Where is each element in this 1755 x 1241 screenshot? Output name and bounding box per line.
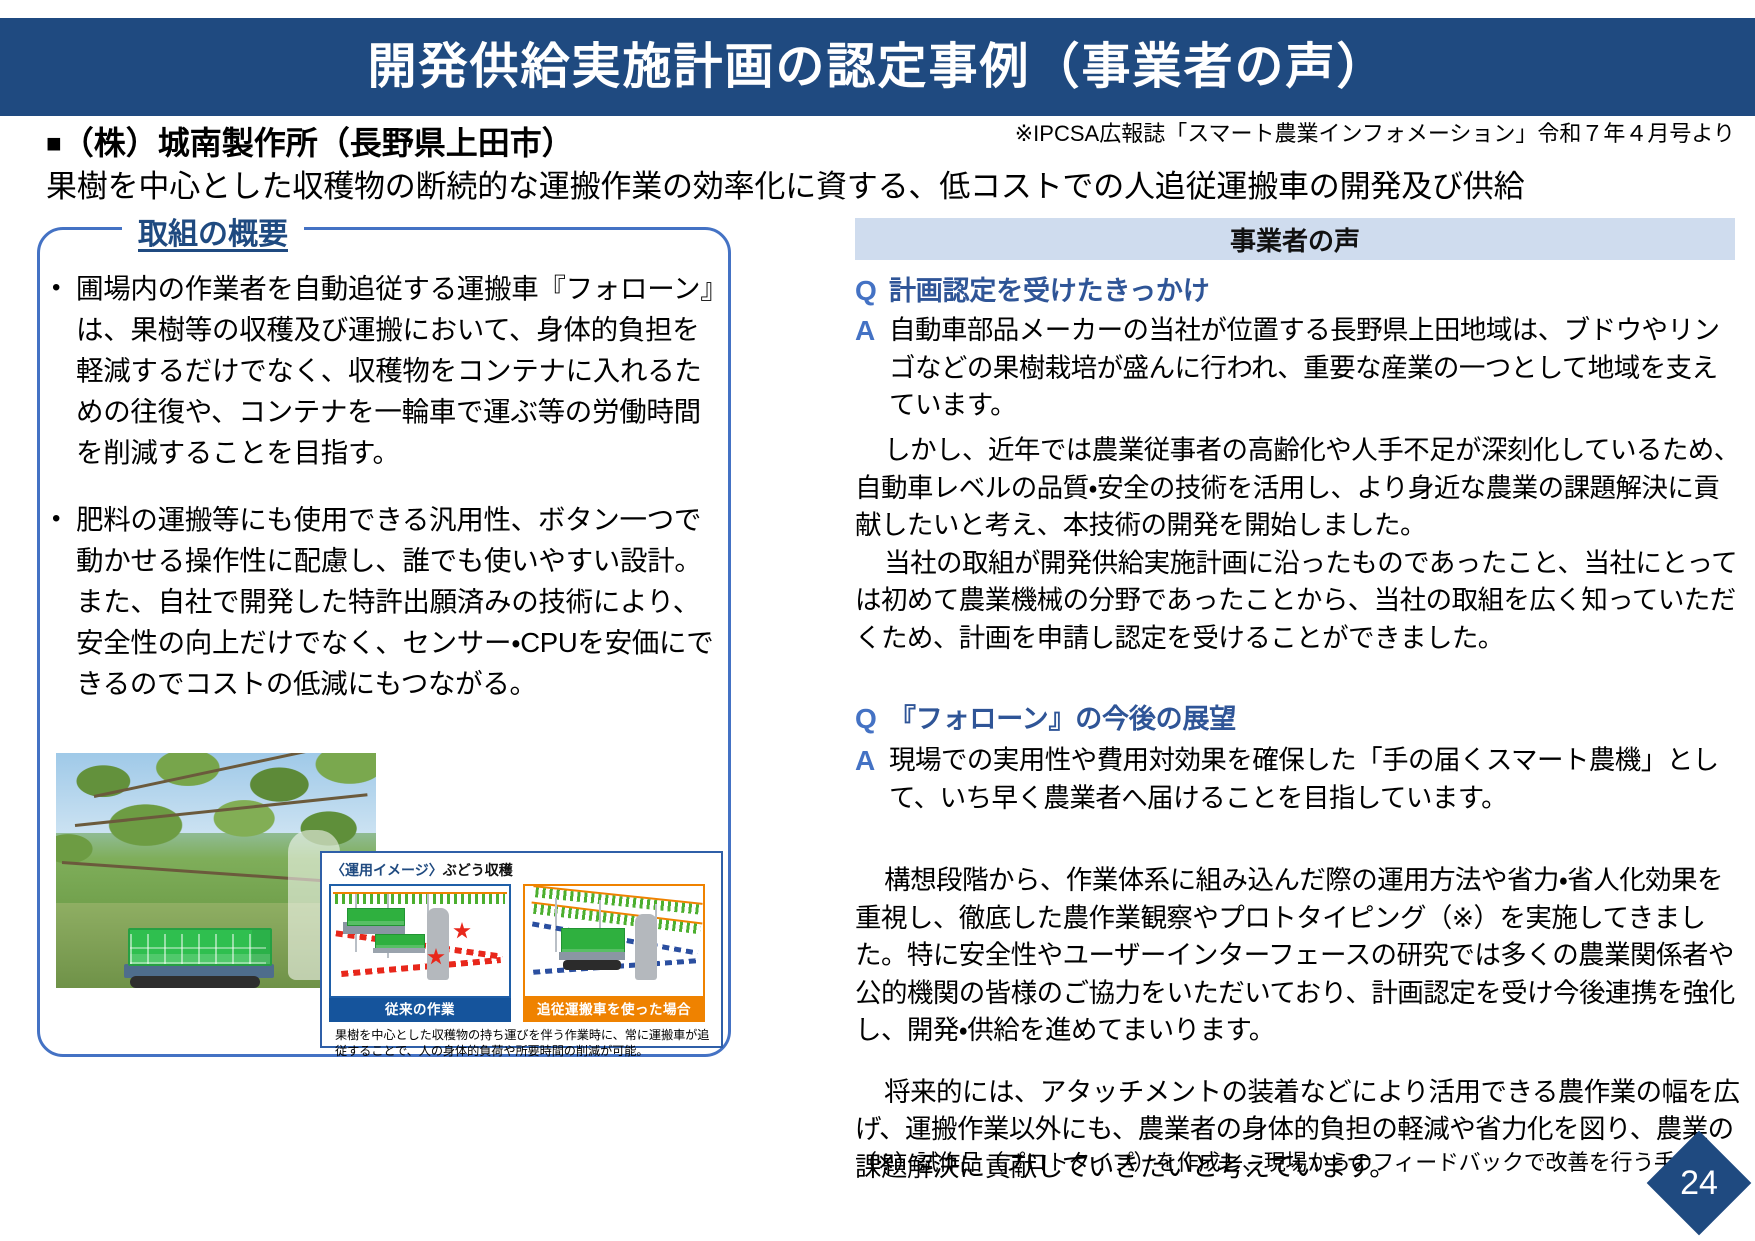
square-bullet-icon: ■ bbox=[46, 128, 62, 158]
bullet-text: 肥料の運搬等にも使用できる汎用性、ボタン一つで動かせる操作性に配慮し、誰でも使い… bbox=[76, 499, 722, 581]
project-subtitle: 果樹を中心とした収穫物の断続的な運搬作業の効率化に資する、低コストでの人追従運搬… bbox=[46, 161, 1524, 206]
answer-text: 自動車部品メーカーの当社が位置する長野県上田地域は、ブドウやリンゴなどの果樹栽培… bbox=[889, 312, 1740, 425]
answer-item-1: A 自動車部品メーカーの当社が位置する長野県上田地域は、ブドウやリンゴなどの果樹… bbox=[855, 312, 1740, 425]
overview-panel-legend: 取組の概要 bbox=[122, 209, 304, 253]
answer-marker: A bbox=[855, 312, 889, 350]
answer-item-2-continued: 構想段階から、作業体系に組み込んだ際の運用方法や省力・省人化効果を重視し、徹底し… bbox=[855, 862, 1745, 1186]
usage-image-after-column: 追従運搬車を使った場合 bbox=[523, 884, 705, 1022]
follow-cart-base bbox=[559, 952, 625, 960]
list-item: • 肥料の運搬等にも使用できる汎用性、ボタン一つで動かせる操作性に配慮し、誰でも… bbox=[52, 499, 722, 704]
bullet-text: また、自社で開発した特許出願済みの技術により、安全性の向上だけでなく、センサー・… bbox=[76, 581, 722, 704]
section-header-label: 事業者の声 bbox=[1230, 221, 1360, 258]
answer-paragraph: 自動車部品メーカーの当社が位置する長野県上田地域は、ブドウやリンゴなどの果樹栽培… bbox=[889, 312, 1740, 425]
question-marker: Q bbox=[855, 272, 889, 310]
answer-paragraph: 構想段階から、作業体系に組み込んだ際の運用方法や省力・省人化効果を重視し、徹底し… bbox=[855, 862, 1745, 1050]
strain-burst-icon bbox=[453, 922, 471, 940]
answer-marker: A bbox=[855, 742, 889, 780]
answer-text: 現場での実用性や費用対効果を確保した「手の届くスマート農機」として、いち早く農業… bbox=[889, 742, 1740, 817]
after-caption: 追従運搬車を使った場合 bbox=[523, 998, 705, 1022]
usage-image-title-rest: ぶどう収穫 bbox=[443, 862, 513, 878]
question-text: 『フォローン』の今後の展望 bbox=[889, 700, 1236, 738]
usage-image-title: 〈運用イメージ〉ぶどう収穫 bbox=[331, 860, 714, 880]
photo-crawler-track bbox=[130, 976, 260, 988]
answer-item-1-continued: しかし、近年では農業従事者の高齢化や人手不足が深刻化しているため、自動車レベルの… bbox=[855, 432, 1745, 657]
bullet-dot-icon: • bbox=[52, 499, 76, 539]
title-banner: 開発供給実施計画の認定事例（事業者の声） bbox=[0, 18, 1755, 116]
usage-image-before-column: 従来の作業 bbox=[329, 884, 511, 1022]
question-line: Q 『フォローン』の今後の展望 bbox=[855, 700, 1740, 738]
answer-paragraph: しかし、近年では農業従事者の高齢化や人手不足が深刻化しているため、自動車レベルの… bbox=[855, 432, 1745, 545]
qa-item-1: Q 計画認定を受けたきっかけ bbox=[855, 272, 1740, 314]
photo-container-grid bbox=[130, 934, 266, 964]
follow-cart-containers bbox=[561, 928, 625, 954]
usage-image-title-bracket: 〈運用イメージ〉 bbox=[331, 862, 443, 878]
source-note: ※IPCSA広報誌「スマート農業インフォメーション」令和７年４月号より bbox=[1015, 116, 1735, 148]
grape-cluster-row bbox=[335, 894, 505, 904]
answer-paragraph: 当社の取組が開発供給実施計画に沿ったものであったこと、当社にとっては初めて農業機… bbox=[855, 545, 1745, 658]
section-header-voices: 事業者の声 bbox=[855, 218, 1735, 260]
follow-cart-track bbox=[563, 960, 621, 970]
overview-bullet-list: • 圃場内の作業者を自動追従する運搬車『フォローン』は、果樹等の収穫及び運搬にお… bbox=[52, 268, 722, 730]
parked-cart-containers bbox=[347, 908, 405, 926]
answer-item-2: A 現場での実用性や費用対効果を確保した「手の届くスマート農機」として、いち早く… bbox=[855, 742, 1740, 817]
usage-image-columns: 従来の作業 追従運搬車を使った場合 bbox=[329, 884, 714, 1022]
company-heading: ■（株）城南製作所（長野県上田市） bbox=[46, 118, 574, 164]
usage-image-card: 〈運用イメージ〉ぶどう収穫 従来の作業 bbox=[320, 851, 723, 1048]
question-line: Q 計画認定を受けたきっかけ bbox=[855, 272, 1740, 310]
wheelbarrow-frame bbox=[373, 948, 425, 953]
answer-line: A 自動車部品メーカーの当社が位置する長野県上田地域は、ブドウやリンゴなどの果樹… bbox=[855, 312, 1740, 425]
footnote: （※）試作品（プロトタイプ）を作成し、現場からのフィードバックで改善を行う手法 bbox=[855, 1145, 1697, 1177]
page-title: 開発供給実施計画の認定事例（事業者の声） bbox=[367, 43, 1387, 92]
bullet-text: 圃場内の作業者を自動追従する運搬車『フォローン』は、果樹等の収穫及び運搬において… bbox=[76, 268, 722, 473]
question-text: 計画認定を受けたきっかけ bbox=[889, 272, 1210, 310]
before-caption: 従来の作業 bbox=[329, 998, 511, 1022]
worker-silhouette bbox=[635, 914, 657, 980]
list-item: • 圃場内の作業者を自動追従する運搬車『フォローン』は、果樹等の収穫及び運搬にお… bbox=[52, 268, 722, 473]
page-number-label: 24 bbox=[1662, 1146, 1736, 1220]
before-scene bbox=[329, 884, 511, 998]
answer-paragraph: 現場での実用性や費用対効果を確保した「手の届くスマート農機」として、いち早く農業… bbox=[889, 742, 1740, 817]
usage-image-note: 果樹を中心とした収穫物の持ち運びを伴う作業時に、常に運搬車が追従することで、人の… bbox=[335, 1027, 714, 1059]
travel-path-red bbox=[341, 957, 501, 977]
company-name: （株）城南製作所（長野県上田市） bbox=[62, 125, 574, 161]
question-marker: Q bbox=[855, 700, 889, 738]
worker-silhouette bbox=[427, 908, 449, 980]
bullet-text-group: 肥料の運搬等にも使用できる汎用性、ボタン一つで動かせる操作性に配慮し、誰でも使い… bbox=[76, 499, 722, 704]
answer-line: A 現場での実用性や費用対効果を確保した「手の届くスマート農機」として、いち早く… bbox=[855, 742, 1740, 817]
qa-item-2: Q 『フォローン』の今後の展望 bbox=[855, 700, 1740, 742]
bullet-dot-icon: • bbox=[52, 268, 76, 308]
after-scene bbox=[523, 884, 705, 998]
